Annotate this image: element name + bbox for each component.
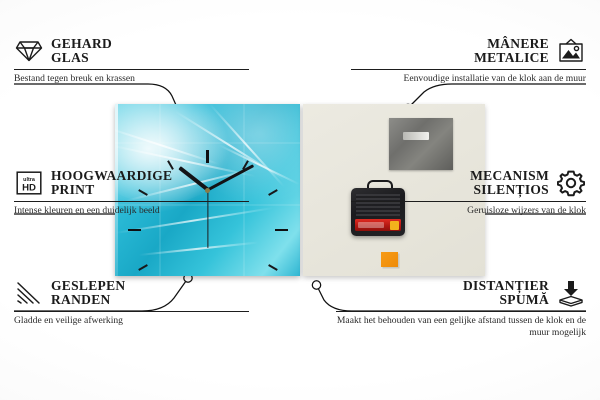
feature-underline — [14, 311, 249, 312]
feature-gehard-glas: GEHARDGLAS Bestand tegen breuk en krasse… — [14, 36, 249, 85]
feature-distantier-spuma: DISTANȚIERSPUMĂ Maakt het behouden van e… — [336, 278, 586, 339]
feature-title: DISTANȚIERSPUMĂ — [463, 279, 549, 308]
product-feature-infographic: GEHARDGLAS Bestand tegen breuk en krasse… — [0, 0, 600, 400]
feature-title: MECANISMSILENȚIOS — [470, 169, 549, 198]
battery-label — [358, 222, 384, 228]
feature-title: GEHARDGLAS — [51, 37, 112, 66]
gear-icon — [556, 168, 586, 198]
battery-plus-terminal — [390, 221, 399, 230]
feature-title: HOOGWAARDIGEPRINT — [51, 169, 172, 198]
feature-geslepen-randen: GESLEPENRANDEN Gladde en veilige afwerki… — [14, 278, 249, 327]
feature-header: MÂNEREMETALICE — [351, 36, 586, 66]
feature-description: Bestand tegen breuk en krassen — [14, 73, 249, 85]
feature-header: GEHARDGLAS — [14, 36, 249, 66]
feature-header: DISTANȚIERSPUMĂ — [336, 278, 586, 308]
feature-hoogwaardige-print: ultra HD HOOGWAARDIGEPRINT Intense kleur… — [14, 168, 249, 217]
battery — [355, 219, 401, 231]
feature-underline — [14, 201, 249, 202]
metal-hanger-plate — [389, 118, 453, 170]
feature-underline — [336, 311, 586, 312]
feature-header: MECANISMSILENȚIOS — [351, 168, 586, 198]
beveled-edge-icon — [14, 278, 44, 308]
connector-manere-metalice — [410, 84, 586, 106]
feature-title: GESLEPENRANDEN — [51, 279, 125, 308]
feature-description: Gladde en veilige afwerking — [14, 315, 249, 327]
picture-frame-hanger-icon — [556, 36, 586, 66]
svg-text:HD: HD — [22, 182, 36, 193]
feature-manere-metalice: MÂNEREMETALICE Eenvoudige installatie va… — [351, 36, 586, 85]
diamond-icon — [14, 36, 44, 66]
feature-description: Eenvoudige installatie van de klok aan d… — [351, 73, 586, 85]
feature-underline — [351, 69, 586, 70]
feature-header: ultra HD HOOGWAARDIGEPRINT — [14, 168, 249, 198]
connector-endpoint-distantier-spuma — [312, 281, 320, 289]
hanger-slot — [403, 132, 429, 140]
ultra-hd-badge-icon: ultra HD — [14, 168, 44, 198]
feature-mecanism-silentios: MECANISMSILENȚIOS Geruisloze wijzers van… — [351, 168, 586, 217]
feature-header: GESLEPENRANDEN — [14, 278, 249, 308]
foam-spacer-arrow-icon — [556, 278, 586, 308]
feature-description: Geruisloze wijzers van de klok — [351, 205, 586, 217]
feature-underline — [351, 201, 586, 202]
feature-underline — [14, 69, 249, 70]
feature-description: Maakt het behouden van een gelijke afsta… — [336, 315, 586, 339]
feature-description: Intense kleuren en een duidelijk beeld — [14, 205, 249, 217]
foam-spacer-pad — [381, 252, 398, 267]
feature-title: MÂNEREMETALICE — [474, 37, 549, 66]
